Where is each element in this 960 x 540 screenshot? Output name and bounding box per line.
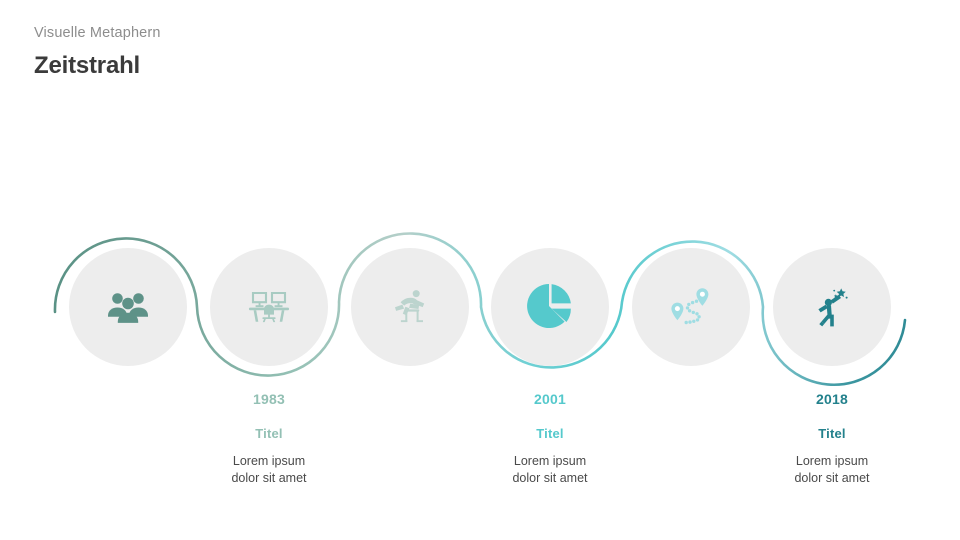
timeline-description: Lorem ipsum dolor sit amet [717,453,947,487]
timeline-icon-circle-1983[interactable] [210,248,328,366]
timeline-description: Lorem ipsum dolor sit amet [435,453,665,487]
timeline-year: 1983 [154,392,384,406]
timeline-icon-circle-2001[interactable] [491,248,609,366]
timeline-icon-circle-1976[interactable] [69,248,187,366]
person-reaching-star-icon [808,283,856,331]
timeline-diagram: 1976 Titel Lorem ipsum dolor sit amet [0,0,960,540]
timeline-titel: Titel [154,427,384,440]
timeline-year: 2018 [717,392,947,406]
timeline-titel: Titel [435,427,665,440]
pie-chart-icon [524,281,576,333]
timeline-titel: Titel [717,427,947,440]
timeline-icon-circle-2013[interactable] [632,248,750,366]
timeline-description: Lorem ipsum dolor sit amet [154,453,384,487]
timeline-label-2018: 2018 Titel Lorem ipsum dolor sit amet [717,392,947,487]
workstation-desk-icon [245,283,293,331]
timeline-icon-circle-1995[interactable] [351,248,469,366]
hurdle-runner-icon [386,283,434,331]
timeline-label-1983: 1983 Titel Lorem ipsum dolor sit amet [154,392,384,487]
timeline-label-2001: 2001 Titel Lorem ipsum dolor sit amet [435,392,665,487]
people-group-icon [105,284,151,330]
route-map-pins-icon [666,282,716,332]
timeline-icon-circle-2018[interactable] [773,248,891,366]
timeline-year: 2001 [435,392,665,406]
